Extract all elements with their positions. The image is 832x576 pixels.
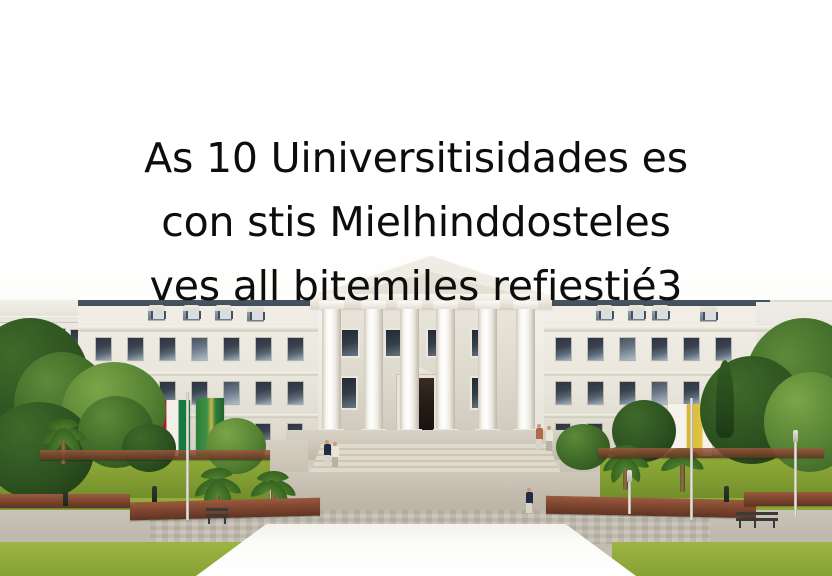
window — [342, 330, 358, 356]
window — [96, 338, 111, 360]
person — [544, 426, 554, 450]
window — [588, 338, 603, 360]
window — [716, 338, 731, 360]
lamp-post — [794, 440, 797, 516]
headline-line-3: ves all bitemiles refiestié3 — [0, 254, 832, 318]
palm-tree — [588, 428, 662, 490]
window — [256, 338, 271, 360]
window — [224, 338, 239, 360]
window — [160, 338, 175, 360]
window — [128, 338, 143, 360]
portico-column — [478, 308, 497, 430]
window — [556, 382, 571, 404]
window — [288, 382, 303, 404]
window — [556, 338, 571, 360]
headline-line-1: As 10 Uiniversitisidades es — [0, 126, 832, 190]
planter-far-right — [744, 492, 832, 506]
palm-tree — [652, 436, 712, 492]
window — [620, 338, 635, 360]
portico-column — [436, 308, 455, 430]
headline-overlay: As 10 Uiniversitisidades es con stis Mie… — [0, 126, 832, 318]
bollard — [724, 486, 729, 502]
flagpole-right — [690, 398, 693, 520]
bollard — [63, 490, 68, 506]
window — [224, 382, 239, 404]
portico-column — [516, 308, 535, 430]
park-bench — [206, 508, 228, 524]
headline-line-2: con stis Mielhinddosteles — [0, 190, 832, 254]
portico-column — [322, 308, 341, 430]
person — [330, 442, 340, 464]
central-walkway — [196, 524, 636, 576]
window — [588, 382, 603, 404]
window — [192, 338, 207, 360]
window — [288, 338, 303, 360]
screenshot-canvas: As 10 Uiniversitisidades es con stis Mie… — [0, 0, 832, 576]
lamp-head — [793, 430, 798, 442]
planter-upper-left — [40, 450, 270, 460]
park-bench — [736, 512, 778, 528]
lamp-head — [627, 470, 632, 482]
planter-upper-right — [598, 448, 824, 458]
flagpole-left — [186, 392, 189, 520]
cornice-band — [78, 326, 326, 331]
shrub — [122, 424, 176, 472]
window — [684, 338, 699, 360]
bollard — [152, 486, 157, 502]
portico-column — [364, 308, 383, 430]
lamp-post — [628, 480, 631, 514]
window — [342, 378, 356, 408]
portico-column — [400, 308, 419, 430]
person — [534, 424, 544, 448]
window — [256, 382, 271, 404]
lawn-strip-right — [612, 542, 832, 576]
person — [524, 488, 534, 514]
window — [652, 338, 667, 360]
cornice-band — [540, 326, 770, 331]
